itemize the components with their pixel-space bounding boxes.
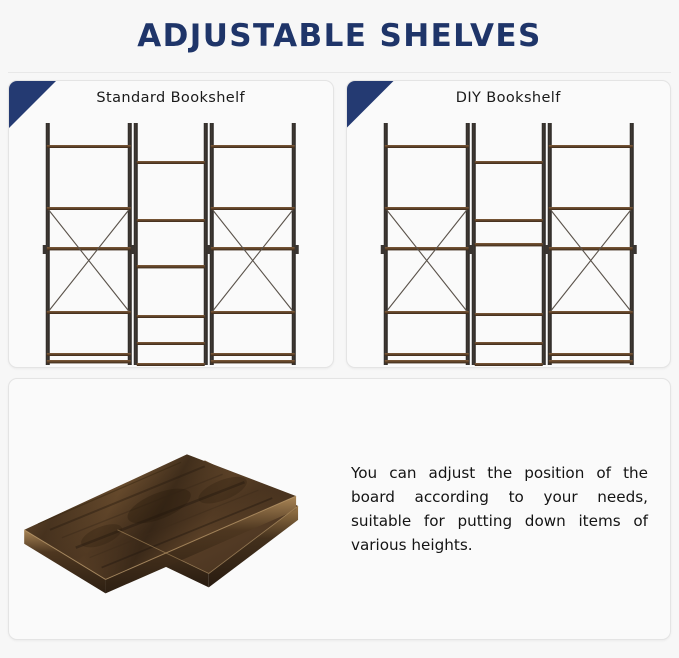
header-divider bbox=[8, 72, 671, 73]
page-header: ADJUSTABLE SHELVES bbox=[0, 0, 679, 72]
page-title: ADJUSTABLE SHELVES bbox=[137, 18, 541, 54]
board-description-text: You can adjust the position of the board… bbox=[351, 461, 648, 557]
shelf-diagram-standard bbox=[9, 117, 333, 367]
comparison-panels: 01 Standard Bookshelf bbox=[8, 80, 671, 368]
shelf-diagram-diy bbox=[347, 117, 671, 367]
board-description-panel: You can adjust the position of the board… bbox=[8, 378, 671, 640]
description-block: You can adjust the position of the board… bbox=[347, 461, 670, 557]
panel-standard-bookshelf: 01 Standard Bookshelf bbox=[8, 80, 334, 368]
panel-heading-01: Standard Bookshelf bbox=[9, 90, 333, 106]
panel-diy-bookshelf: 02 DIY Bookshelf bbox=[346, 80, 672, 368]
panel-heading-02: DIY Bookshelf bbox=[347, 90, 671, 106]
shelf-board-photo bbox=[9, 379, 347, 639]
